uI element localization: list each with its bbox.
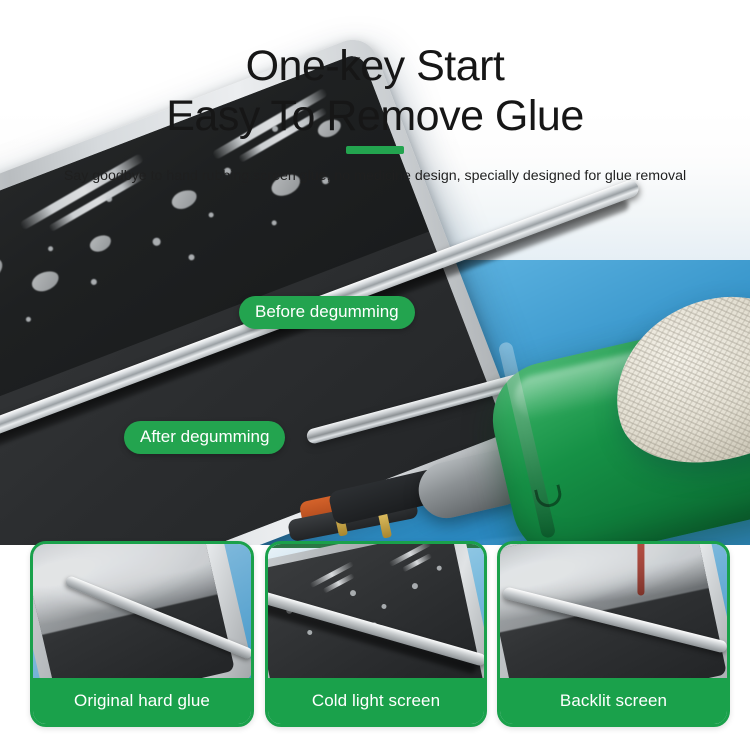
badge-after-degumming: After degumming: [124, 421, 285, 454]
thumbnail-panel-row: Original hard glue: [0, 541, 750, 750]
panel-photo-backlit-screen: [500, 544, 727, 678]
panel-cold-light-screen[interactable]: Cold light screen: [265, 541, 487, 727]
panel-caption-cold-light-screen: Cold light screen: [268, 678, 484, 724]
panel-original-hard-glue[interactable]: Original hard glue: [30, 541, 254, 727]
badge-before-degumming: Before degumming: [239, 296, 415, 329]
panel-caption-backlit-screen: Backlit screen: [500, 678, 727, 724]
panel-photo-original-hard-glue: [33, 544, 251, 678]
panel-caption-original-hard-glue: Original hard glue: [33, 678, 251, 724]
product-marketing-page: Before degumming After degumming One-key…: [0, 0, 750, 750]
green-divider-bar: [346, 146, 404, 154]
page-title: One-key Start Easy To Remove Glue: [0, 44, 750, 139]
panel-photo-cold-light-screen: [268, 544, 484, 678]
subtitle-text: Say goodbye to hand rubbing screen glue,…: [0, 168, 750, 184]
headline-line-2: Easy To Remove Glue: [0, 94, 750, 140]
headline-line-1: One-key Start: [0, 44, 750, 90]
panel-backlit-screen[interactable]: Backlit screen: [497, 541, 730, 727]
